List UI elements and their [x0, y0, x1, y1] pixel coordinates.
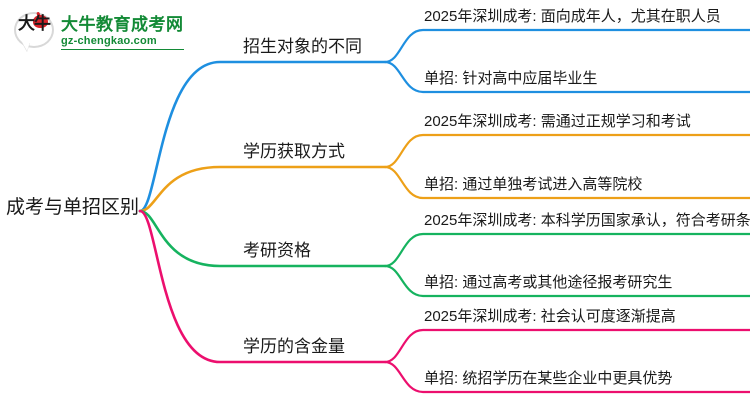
- leaf-node-label[interactable]: 单招: 通过单独考试进入高等院校: [424, 177, 642, 192]
- leaf-node-label[interactable]: 2025年深圳成考: 面向成年人，尤其在职人员: [424, 9, 721, 24]
- leaf-node-label[interactable]: 2025年深圳成考: 社会认可度逐渐提高: [424, 309, 676, 324]
- connector-path: [385, 330, 750, 362]
- branch-node-label[interactable]: 学历的含金量: [243, 338, 345, 355]
- branch-node-label[interactable]: 招生对象的不同: [243, 38, 362, 55]
- leaf-node-label[interactable]: 2025年深圳成考: 需通过正规学习和考试: [424, 114, 691, 129]
- connector-path: [140, 167, 385, 211]
- logo-wordmark: 大牛教育成考网 gz-chengkao.com: [61, 15, 184, 50]
- leaf-node-label[interactable]: 2025年深圳成考: 本科学历国家承认，符合考研条件: [424, 213, 750, 228]
- connector-path: [385, 135, 750, 167]
- branch-node-label[interactable]: 学历获取方式: [243, 143, 345, 160]
- logo-domain: gz-chengkao.com: [61, 34, 184, 50]
- branch-node-label[interactable]: 考研资格: [243, 242, 311, 259]
- mindmap-canvas: 大牛 大牛教育成考网 gz-chengkao.com 成考与单招区别 招生对象的…: [0, 0, 750, 410]
- leaf-node-label[interactable]: 单招: 针对高中应届毕业生: [424, 71, 597, 86]
- connector-path: [385, 234, 750, 266]
- root-node-label[interactable]: 成考与单招区别: [6, 198, 139, 217]
- logo-mark-text: 大牛: [18, 18, 50, 31]
- site-logo: 大牛 大牛教育成考网 gz-chengkao.com: [14, 12, 184, 52]
- leaf-node-label[interactable]: 单招: 通过高考或其他途径报考研究生: [424, 275, 672, 290]
- leaf-node-label[interactable]: 单招: 统招学历在某些企业中更具优势: [424, 371, 672, 386]
- logo-title: 大牛教育成考网: [61, 15, 184, 34]
- logo-bubble-tail: [22, 42, 30, 51]
- connector-path: [385, 30, 750, 62]
- connector-path: [140, 62, 385, 211]
- logo-badge-icon: 大牛: [14, 12, 54, 52]
